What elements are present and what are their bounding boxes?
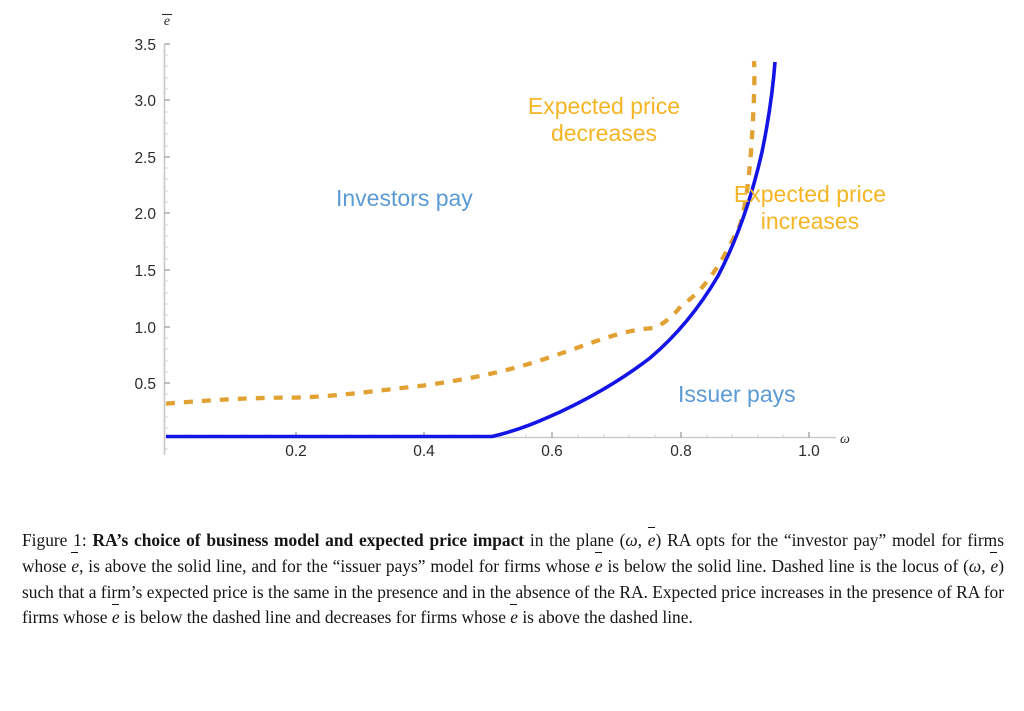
caption-ebar-2: e bbox=[71, 554, 79, 580]
y-tick-label-6: 3.5 bbox=[134, 37, 156, 54]
y-tick-label-4: 2.5 bbox=[134, 150, 156, 167]
caption-omega-2: ω bbox=[969, 556, 981, 576]
caption-ebar-1: e bbox=[648, 528, 656, 554]
annotation-expected-price-increases-line1: Expected price bbox=[734, 181, 886, 207]
figure-caption: Figure 1: RA’s choice of business model … bbox=[22, 528, 1004, 631]
y-tick-label-5: 3.0 bbox=[134, 93, 156, 110]
caption-comma-2: , bbox=[981, 556, 990, 576]
x-tick-label-4: 1.0 bbox=[798, 443, 820, 460]
caption-text-4: is below the solid line. Dashed line is … bbox=[603, 556, 969, 576]
annotation-expected-price-decreases-line1: Expected price bbox=[528, 93, 680, 119]
annotation-investors-pay: Investors pay bbox=[336, 185, 473, 211]
figure-panel: 0.2 0.4 0.6 0.8 1.0 0.5 1.0 1.5 2.0 2.5 … bbox=[0, 0, 1024, 500]
x-tick-label-3: 0.8 bbox=[670, 443, 692, 460]
x-tick-label-2: 0.6 bbox=[541, 443, 563, 460]
y-tick-label-3: 2.0 bbox=[134, 206, 156, 223]
caption-text-3: , is above the solid line, and for the “… bbox=[79, 556, 595, 576]
caption-ebar-6: e bbox=[510, 605, 518, 631]
y-tick-label-1: 1.0 bbox=[134, 320, 156, 337]
plot-canvas: 0.2 0.4 0.6 0.8 1.0 0.5 1.0 1.5 2.0 2.5 … bbox=[0, 0, 1024, 500]
y-tick-label-0: 0.5 bbox=[134, 376, 156, 393]
caption-text-7: is above the dashed line. bbox=[518, 607, 693, 627]
y-axis-label-group: e bbox=[162, 14, 172, 29]
caption-figure-number: Figure 1: bbox=[22, 530, 87, 550]
annotation-expected-price-increases-line2: increases bbox=[761, 208, 859, 234]
caption-text-6: is below the dashed line and decreases f… bbox=[120, 607, 511, 627]
caption-ebar-3: e bbox=[595, 554, 603, 580]
x-tick-label-1: 0.4 bbox=[413, 443, 435, 460]
x-axis-label: ω bbox=[840, 432, 850, 447]
caption-bold-title: RA’s choice of business model and expect… bbox=[92, 530, 524, 550]
caption-omega-1: ω bbox=[625, 530, 637, 550]
y-axis-major-ticks bbox=[165, 44, 171, 383]
caption-ebar-5: e bbox=[112, 605, 120, 631]
caption-ebar-4: e bbox=[990, 554, 998, 580]
caption-text-1: in the plane ( bbox=[524, 530, 625, 550]
annotation-issuer-pays: Issuer pays bbox=[678, 381, 796, 407]
annotation-expected-price-decreases-line2: decreases bbox=[551, 120, 657, 146]
x-tick-label-0: 0.2 bbox=[285, 443, 307, 460]
y-tick-label-2: 1.5 bbox=[134, 263, 156, 280]
caption-comma-1: , bbox=[638, 530, 648, 550]
y-axis-label: e bbox=[164, 14, 170, 29]
